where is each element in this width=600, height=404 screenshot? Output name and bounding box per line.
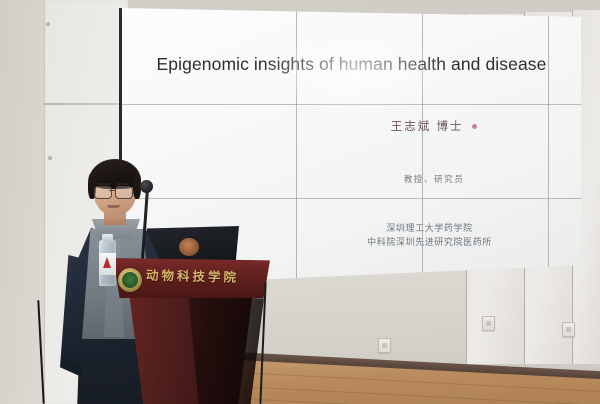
slide-presenter-role: 教授、研究员 — [287, 173, 581, 185]
college-crest-emblem-icon — [118, 268, 142, 292]
water-bottle — [99, 240, 116, 286]
wall-outlet[interactable] — [562, 322, 575, 337]
microphone-icon — [140, 180, 153, 193]
slide-presenter-name: 王志斌 博士 — [287, 118, 581, 134]
slide-affiliation: 深圳理工大学药学院 中科院深圳先进研究院医药所 — [278, 221, 581, 249]
podium: 动物科技学院 — [110, 258, 270, 404]
screen-seam-horizontal — [122, 104, 581, 105]
accent-dot-icon — [472, 124, 477, 129]
panel-screw — [46, 22, 50, 26]
screen-seam-horizontal — [122, 198, 581, 199]
podium-front-panel: 动物科技学院 — [110, 258, 270, 298]
glasses-icon — [115, 186, 133, 199]
bottle-cap — [102, 234, 113, 241]
podium-label: 动物科技学院 — [146, 265, 266, 287]
presenter-name-text: 王志斌 博士 — [391, 121, 464, 133]
affiliation-line-1: 深圳理工大学药学院 — [278, 221, 581, 235]
wall-outlet[interactable] — [378, 338, 391, 353]
glasses-icon — [94, 186, 112, 199]
speaker-mouth — [107, 205, 120, 208]
slide-title: Epigenomic insights of human health and … — [122, 54, 581, 75]
bottle-label — [99, 253, 116, 275]
panel-screw — [48, 156, 52, 160]
wall-left-panel-seam — [44, 103, 128, 105]
lecture-photo-scene: Epigenomic insights of human health and … — [0, 0, 600, 404]
affiliation-line-2: 中科院深圳先进研究院医药所 — [278, 235, 581, 249]
glasses-bridge-icon — [109, 190, 116, 191]
wall-outlet[interactable] — [482, 316, 495, 331]
bronze-roundel-emblem-icon — [179, 238, 199, 256]
